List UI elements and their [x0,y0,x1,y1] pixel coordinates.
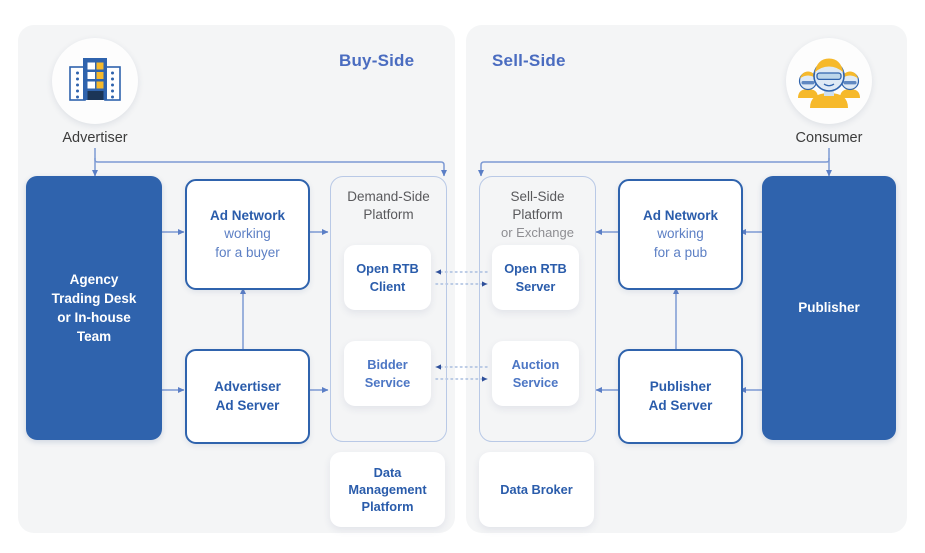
advertiser-ad-server-box[interactable]: Advertiser Ad Server [185,349,310,444]
publisher-label: Publisher [798,298,860,317]
open-rtb-client-label: Open RTB Client [356,260,419,295]
consumer-avatar [786,38,872,124]
buy-ad-network-sub2: for a buyer [215,244,280,262]
sell-ad-network-title: Ad Network [643,207,718,225]
advertiser-avatar [52,38,138,124]
bidder-service-label: Bidder Service [365,356,411,391]
sell-ad-network-box[interactable]: Ad Network working for a pub [618,179,743,290]
publisher-ad-server-line2: Ad Server [649,397,713,415]
consumer-label: Consumer [784,130,874,146]
data-broker-label: Data Broker [500,481,573,498]
open-rtb-server-card[interactable]: Open RTB Server [492,245,579,310]
diagram-canvas: Buy-Side Sell-Side [0,0,925,553]
advertiser-ad-server-line2: Ad Server [216,397,280,415]
auction-service-label: Auction Service [512,356,560,391]
open-rtb-client-card[interactable]: Open RTB Client [344,245,431,310]
open-rtb-server-label: Open RTB Server [504,260,567,295]
data-management-platform-card[interactable]: Data Management Platform [330,452,445,527]
agency-trading-desk-box[interactable]: Agency Trading Desk or In-house Team [26,176,162,440]
sell-side-title: Sell-Side [492,51,566,71]
advertiser-ad-server-line1: Advertiser [214,378,281,396]
publisher-box[interactable]: Publisher [762,176,896,440]
agency-label: Agency Trading Desk or In-house Team [52,270,137,347]
bidder-service-card[interactable]: Bidder Service [344,341,431,406]
ssp-title: Sell-Side Platform or Exchange [480,188,595,242]
dmp-label: Data Management Platform [348,464,426,516]
publisher-ad-server-line1: Publisher [650,378,712,396]
people-group-icon [786,38,872,124]
dsp-title: Demand-Side Platform [331,188,446,224]
buy-ad-network-box[interactable]: Ad Network working for a buyer [185,179,310,290]
sell-ad-network-sub2: for a pub [654,244,707,262]
buy-ad-network-sub1: working [224,225,271,243]
advertiser-label: Advertiser [52,130,138,146]
data-broker-card[interactable]: Data Broker [479,452,594,527]
auction-service-card[interactable]: Auction Service [492,341,579,406]
publisher-ad-server-box[interactable]: Publisher Ad Server [618,349,743,444]
sell-ad-network-sub1: working [657,225,704,243]
office-building-icon [52,38,138,124]
buy-ad-network-title: Ad Network [210,207,285,225]
buy-side-title: Buy-Side [339,51,414,71]
